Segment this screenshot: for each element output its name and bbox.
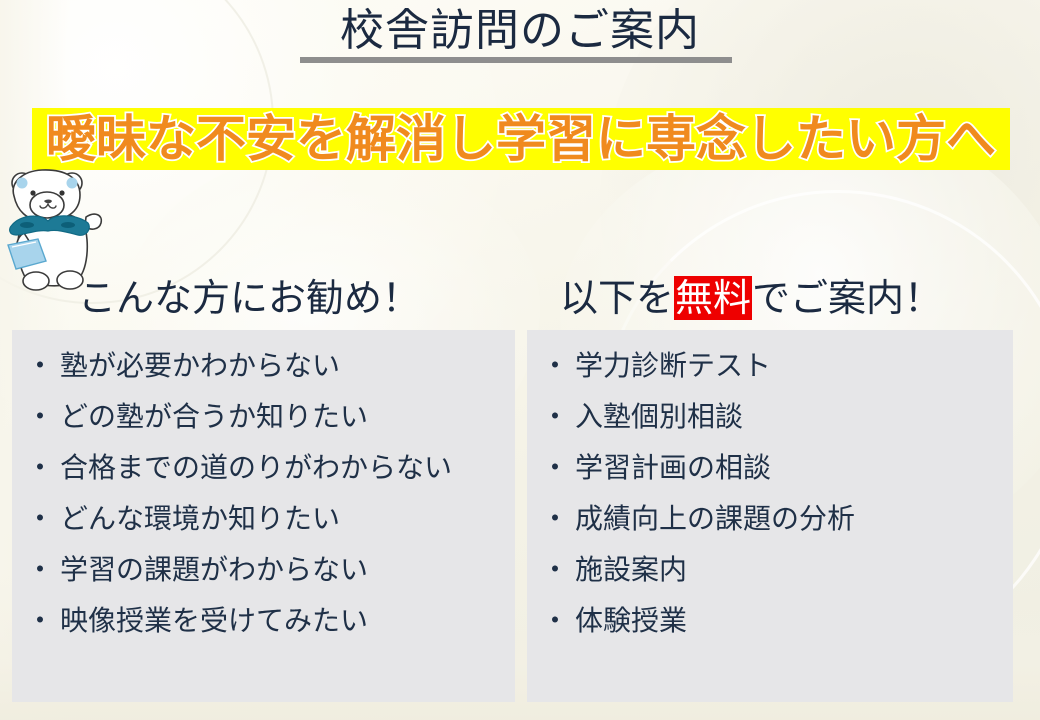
bullet-marker: ・ (541, 607, 569, 635)
bullet-marker: ・ (26, 505, 54, 533)
list-item: ・学習の課題がわからない (26, 556, 515, 584)
page-title: 校舎訪問のご案内 (0, 8, 1040, 54)
highlight-banner-text: 曖昧な不安を解消し学習に専念したい方へ (46, 114, 996, 164)
list-item: ・塾が必要かわからない (26, 352, 515, 380)
right-heading-suffix: でご案内！ (752, 276, 942, 320)
bullet-marker: ・ (26, 556, 54, 584)
list-item-label: 学力診断テスト (575, 352, 771, 380)
right-column-heading: 以下を無料でご案内！ (560, 278, 942, 320)
bullet-marker: ・ (541, 454, 569, 482)
left-column-heading-text: こんな方にお勧め！ (78, 276, 420, 320)
title-underline-rule (300, 57, 732, 63)
list-item-label: 成績向上の課題の分析 (575, 505, 855, 533)
left-panel: ・塾が必要かわからない ・どの塾が合うか知りたい ・合格までの道のりがわからない… (12, 330, 515, 702)
bullet-marker: ・ (26, 352, 54, 380)
list-item-label: 施設案内 (575, 556, 687, 584)
list-item: ・どの塾が合うか知りたい (26, 403, 515, 431)
list-item-label: 塾が必要かわからない (60, 352, 340, 380)
list-item: ・合格までの道のりがわからない (26, 454, 515, 482)
right-panel-list: ・学力診断テスト ・入塾個別相談 ・学習計画の相談 ・成績向上の課題の分析 ・施… (527, 330, 1013, 635)
left-panel-list: ・塾が必要かわからない ・どの塾が合うか知りたい ・合格までの道のりがわからない… (12, 330, 515, 635)
list-item-label: 合格までの道のりがわからない (60, 454, 452, 482)
bullet-marker: ・ (541, 403, 569, 431)
list-item: ・学習計画の相談 (541, 454, 1013, 482)
right-panel: ・学力診断テスト ・入塾個別相談 ・学習計画の相談 ・成績向上の課題の分析 ・施… (527, 330, 1013, 702)
list-item-label: 体験授業 (575, 607, 687, 635)
list-item: ・学力診断テスト (541, 352, 1013, 380)
bear-mascot (0, 163, 108, 291)
list-item: ・どんな環境か知りたい (26, 505, 515, 533)
list-item-label: どんな環境か知りたい (60, 505, 340, 533)
list-item: ・体験授業 (541, 607, 1013, 635)
bullet-marker: ・ (541, 556, 569, 584)
list-item: ・入塾個別相談 (541, 403, 1013, 431)
list-item-label: 学習の課題がわからない (60, 556, 368, 584)
bullet-marker: ・ (26, 403, 54, 431)
bullet-marker: ・ (26, 454, 54, 482)
right-heading-prefix: 以下を (560, 276, 674, 320)
highlight-banner: 曖昧な不安を解消し学習に専念したい方へ (32, 108, 1010, 170)
page-title-text: 校舎訪問のご案内 (340, 8, 700, 54)
slide-root: 校舎訪問のご案内 曖昧な不安を解消し学習に専念したい方へ (0, 0, 1040, 720)
list-item-label: 入塾個別相談 (575, 403, 743, 431)
list-item: ・映像授業を受けてみたい (26, 607, 515, 635)
list-item: ・成績向上の課題の分析 (541, 505, 1013, 533)
bullet-marker: ・ (541, 505, 569, 533)
bullet-marker: ・ (541, 352, 569, 380)
right-heading-highlight: 無料 (674, 276, 752, 320)
bullet-marker: ・ (26, 607, 54, 635)
left-column-heading: こんな方にお勧め！ (78, 278, 420, 320)
list-item: ・施設案内 (541, 556, 1013, 584)
list-item-label: どの塾が合うか知りたい (60, 403, 368, 431)
list-item-label: 映像授業を受けてみたい (60, 607, 368, 635)
list-item-label: 学習計画の相談 (575, 454, 771, 482)
